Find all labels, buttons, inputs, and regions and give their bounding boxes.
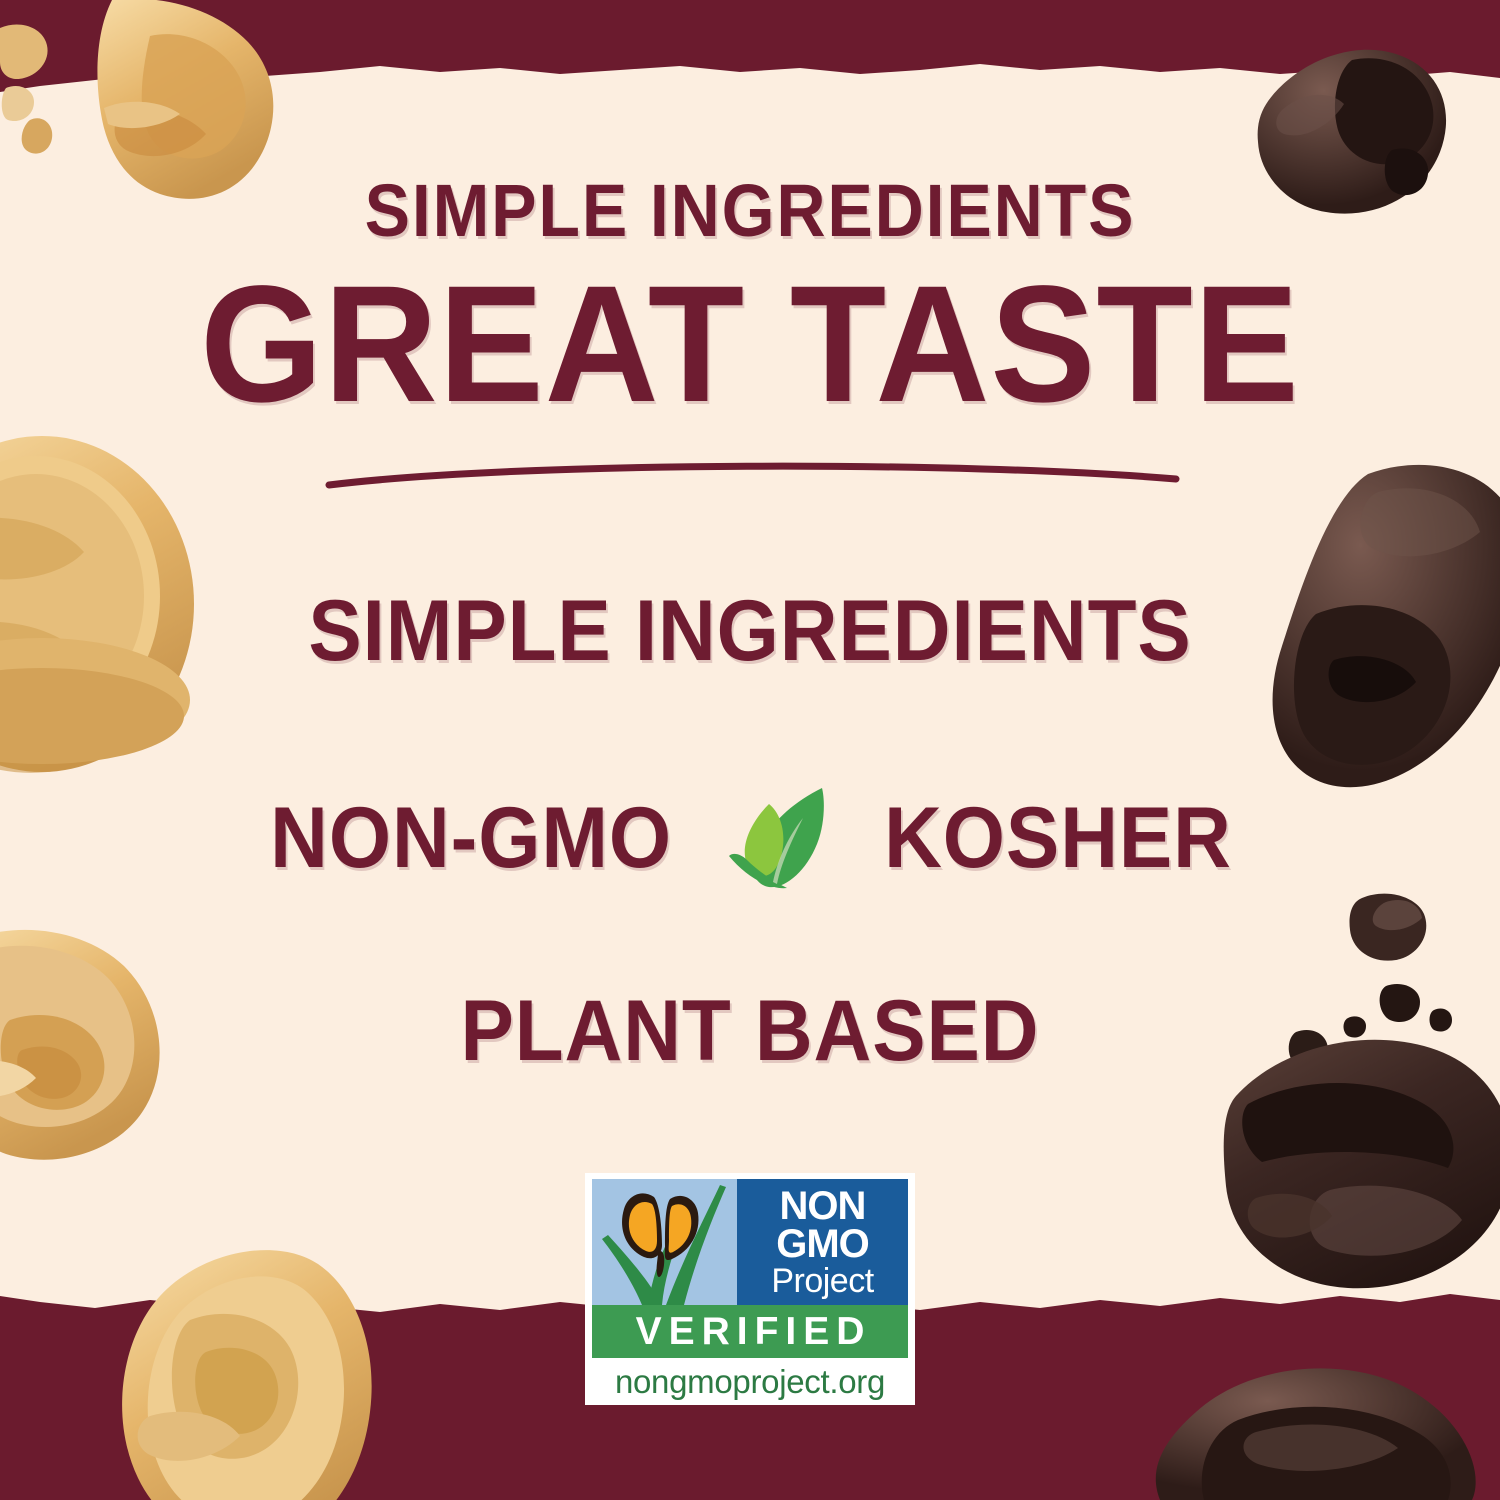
- seal-non-text: NON: [780, 1188, 866, 1226]
- claim-simple-ingredients: SIMPLE INGREDIENTS: [53, 582, 1448, 681]
- seal-project-text: Project: [771, 1264, 873, 1298]
- seal-url-text: nongmoproject.org: [592, 1358, 908, 1404]
- claim-plant-based: PLANT BASED: [53, 982, 1448, 1081]
- non-gmo-project-verified-seal: NON GMO Project VERIFIED nongmoproject.o…: [585, 1173, 915, 1405]
- eyebrow-text: SIMPLE INGREDIENTS: [60, 168, 1440, 253]
- claim-kosher: KOSHER: [884, 789, 1232, 888]
- seal-verified-band: VERIFIED: [592, 1305, 908, 1358]
- seal-gmo-text: GMO: [776, 1226, 869, 1264]
- butterfly-grass-icon: [592, 1179, 737, 1305]
- seal-wordmark: NON GMO Project: [737, 1179, 908, 1305]
- page-title: GREAT TASTE: [38, 262, 1463, 428]
- promo-graphic: SIMPLE INGREDIENTS GREAT TASTE SIMPLE IN…: [0, 0, 1500, 1500]
- claim-non-gmo: NON-GMO: [270, 789, 672, 888]
- leaf-icon: [725, 782, 833, 894]
- seal-top-row: NON GMO Project: [592, 1179, 908, 1305]
- claim-row-nongmo-kosher: NON-GMO KOSHER: [0, 782, 1500, 894]
- divider-rule: [325, 455, 1180, 495]
